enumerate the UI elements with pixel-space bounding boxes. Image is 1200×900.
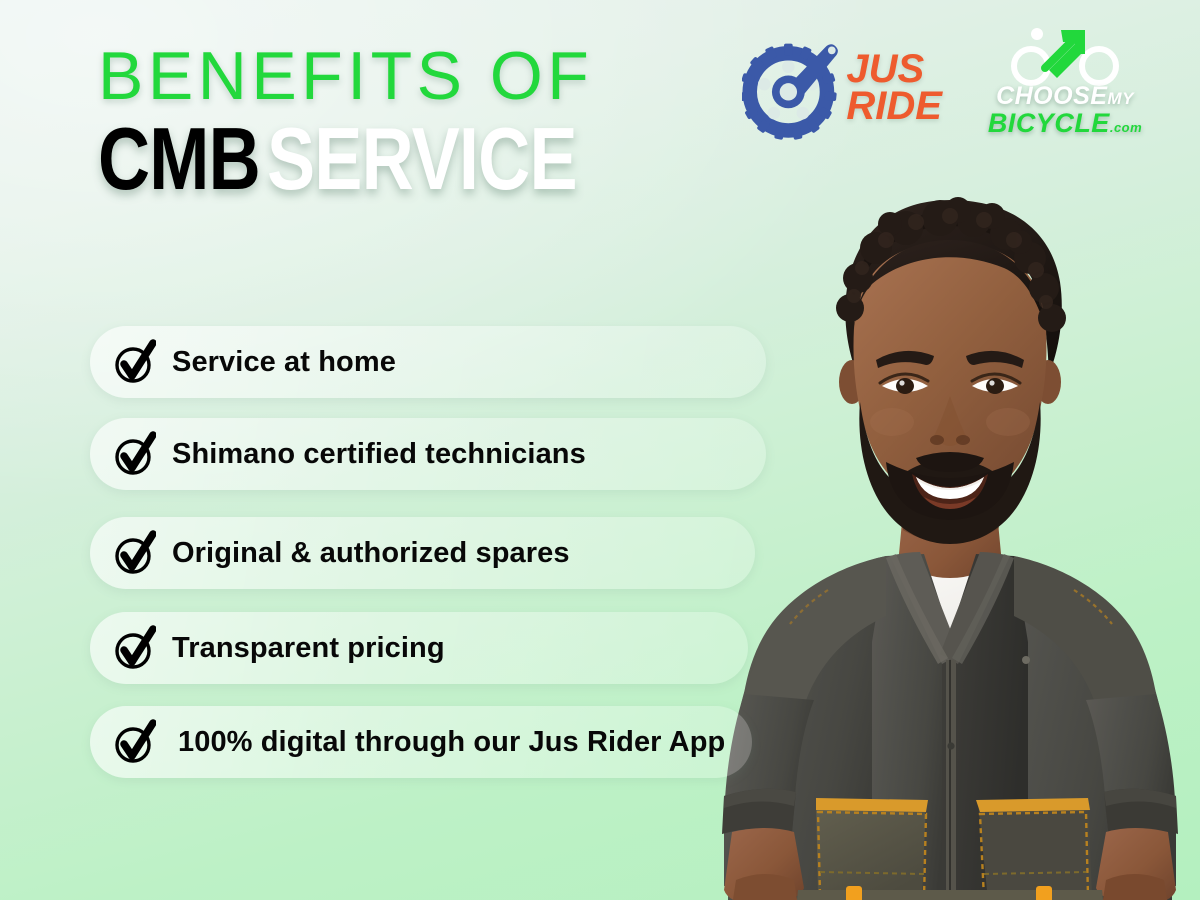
chainring-crank-icon <box>742 36 842 140</box>
page-title: BENEFITS OF CMBSERVICE <box>98 44 645 203</box>
check-circle-icon <box>114 625 156 671</box>
benefit-label: Transparent pricing <box>172 632 445 665</box>
heading-word-service: SERVICE <box>267 115 577 203</box>
technician-illustration <box>700 190 1200 900</box>
benefit-pill-5[interactable]: 100% digital through our Jus Rider App <box>90 706 752 778</box>
check-circle-icon <box>114 431 156 477</box>
benefit-pill-2[interactable]: Shimano certified technicians <box>90 418 766 490</box>
choosemybicycle-line2: BICYCLE.com <box>975 110 1155 137</box>
benefit-pill-4[interactable]: Transparent pricing <box>90 612 748 684</box>
check-circle-icon <box>114 530 156 576</box>
choosemybicycle-text-bicycle: BICYCLE <box>988 108 1110 138</box>
benefit-label: Shimano certified technicians <box>172 438 586 471</box>
benefit-label: Service at home <box>172 346 396 379</box>
technician-photo <box>700 190 1200 900</box>
benefit-label: Original & authorized spares <box>172 537 570 570</box>
heading-word-cmb: CMB <box>98 115 260 203</box>
check-circle-icon <box>114 719 156 765</box>
jusride-text-ride: RIDE <box>846 88 942 125</box>
choosemybicycle-text-dotcom: .com <box>1110 120 1142 135</box>
poster-canvas: BENEFITS OF CMBSERVICE <box>0 0 1200 900</box>
benefit-pill-1[interactable]: Service at home <box>90 326 766 398</box>
benefit-pill-3[interactable]: Original & authorized spares <box>90 517 755 589</box>
choosemybicycle-text-my: MY <box>1107 89 1134 108</box>
bicycle-arrow-icon <box>1005 24 1125 86</box>
heading-line-cmb-service: CMBSERVICE <box>98 115 645 203</box>
benefit-label: 100% digital through our Jus Rider App <box>178 726 725 759</box>
check-circle-icon <box>114 339 156 385</box>
heading-line-benefits-of: BENEFITS OF <box>98 44 645 109</box>
jusride-wordmark: JUS RIDE <box>846 51 942 125</box>
choosemybicycle-logo[interactable]: CHOOSEMY BICYCLE.com <box>975 24 1155 154</box>
choosemybicycle-text-choose: CHOOSE <box>996 82 1107 110</box>
jusride-text-jus: JUS <box>846 51 942 88</box>
jusride-logo[interactable]: JUS RIDE <box>742 30 942 145</box>
choosemybicycle-line1: CHOOSEMY <box>975 84 1155 109</box>
